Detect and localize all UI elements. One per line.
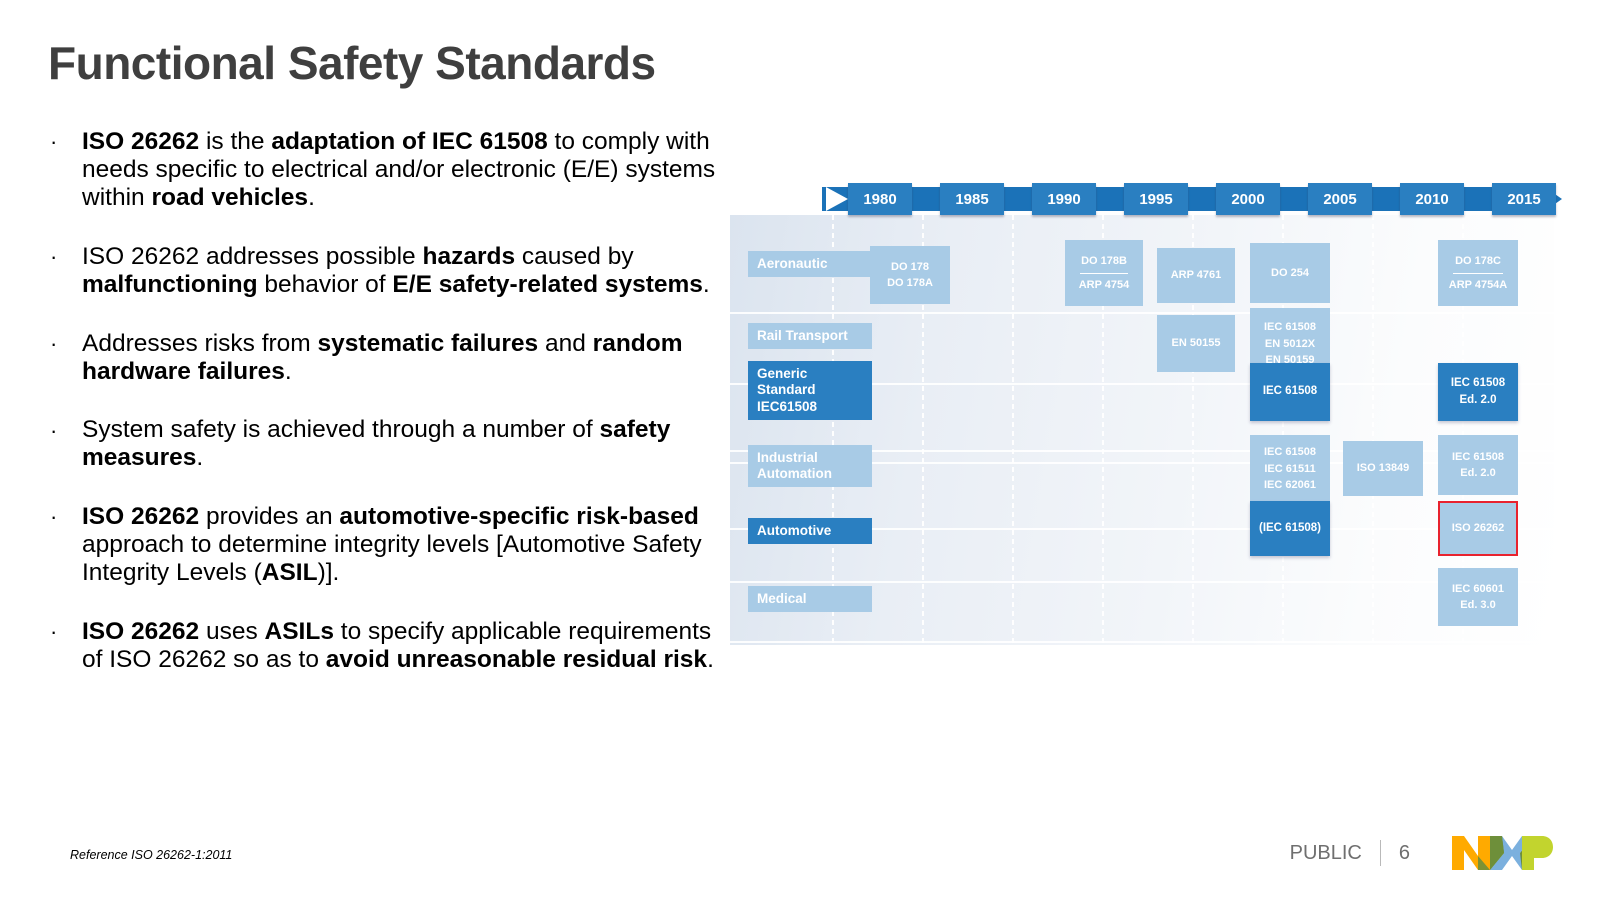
cell-line: DO 178B (1081, 253, 1127, 270)
cell-line: DO 178 (891, 259, 929, 276)
nxp-logo (1450, 832, 1554, 874)
axis-year-1995: 1995 (1124, 183, 1188, 215)
cell-line: DO 178A (887, 275, 933, 292)
cell-generic-iec61508-ed2: IEC 61508 Ed. 2.0 (1438, 363, 1518, 421)
axis-year-2000: 2000 (1216, 183, 1280, 215)
row-label-text: Medical (757, 591, 807, 606)
axis-arrow-left-icon (826, 187, 848, 211)
bullet-text: and (538, 330, 593, 357)
cell-line: ARP 4754 (1079, 277, 1130, 294)
bullet-text: Addresses risks from (82, 330, 318, 357)
bullet-emphasis: ASILs (265, 618, 334, 645)
cell-iso13849: ISO 13849 (1343, 441, 1423, 496)
grid-row-line (730, 581, 1554, 583)
bullet-marker: · (50, 504, 57, 529)
bullet-emphasis: hazards (423, 243, 516, 270)
cell-line: (IEC 61508) (1259, 520, 1321, 537)
cell-divider (1080, 273, 1128, 274)
bullet-text: . (703, 271, 710, 298)
cell-line: DO 178C (1455, 253, 1501, 270)
bullet-emphasis: ASIL (262, 559, 318, 586)
bullet-marker: · (50, 129, 57, 154)
bullet-emphasis: road vehicles (151, 184, 308, 211)
bullet-emphasis: adaptation of IEC 61508 (271, 128, 547, 155)
cell-generic-iec61508: IEC 61508 (1250, 363, 1330, 421)
grid-row-line (730, 312, 1554, 314)
bullet-text: . (285, 358, 292, 385)
cell-industrial-iec61508-ed2: IEC 61508 Ed. 2.0 (1438, 435, 1518, 495)
cell-line: ISO 26262 (1452, 520, 1505, 537)
cell-iec60601-ed3: IEC 60601 Ed. 3.0 (1438, 568, 1518, 626)
cell-line: Ed. 3.0 (1460, 597, 1495, 614)
cell-iso26262-highlight: ISO 26262 (1438, 501, 1518, 556)
timeline-axis: 1980 1985 1990 1995 2000 2005 2010 2015 (730, 183, 1554, 215)
row-label-text: Aeronautic (757, 256, 828, 271)
bullet-item: ·ISO 26262 is the adaptation of IEC 6150… (44, 128, 724, 212)
row-label-text: Rail Transport (757, 328, 848, 343)
bullet-list: ·ISO 26262 is the adaptation of IEC 6150… (44, 128, 724, 705)
axis-year-1985: 1985 (940, 183, 1004, 215)
bullet-text: . (308, 184, 315, 211)
cell-do178: DO 178 DO 178A (870, 246, 950, 304)
page-number: 6 (1399, 842, 1410, 865)
bullet-item: ·ISO 26262 addresses possible hazards ca… (44, 243, 724, 299)
cell-line: Ed. 2.0 (1459, 392, 1496, 409)
footer-divider (1380, 840, 1381, 866)
cell-do178b-arp4754: DO 178B ARP 4754 (1065, 240, 1143, 306)
cell-line: DO 254 (1271, 265, 1309, 282)
row-label-medical: Medical (748, 586, 872, 612)
row-label-text: Automotive (757, 523, 831, 538)
cell-line: IEC 60601 (1452, 581, 1504, 598)
row-label-automotive: Automotive (748, 518, 872, 544)
bullet-emphasis: systematic failures (318, 330, 539, 357)
bullet-marker: · (50, 619, 57, 644)
bullet-emphasis: E/E safety-related systems (392, 271, 703, 298)
row-label-rail-transport: Rail Transport (748, 323, 872, 349)
bullet-text: provides an (199, 503, 339, 530)
bullet-emphasis: automotive-specific risk-based (339, 503, 698, 530)
bullet-marker: · (50, 331, 57, 356)
reference-note: Reference ISO 26262-1:2011 (70, 848, 232, 862)
footer-right: PUBLIC 6 (1290, 840, 1410, 866)
cell-industrial-iec-group: IEC 61508 IEC 61511 IEC 62061 (1250, 435, 1330, 503)
bullet-text: . (707, 646, 714, 673)
axis-year-2010: 2010 (1400, 183, 1464, 215)
axis-year-2005: 2005 (1308, 183, 1372, 215)
cell-line: IEC 61511 (1264, 461, 1315, 478)
cell-en50155: EN 50155 (1157, 315, 1235, 372)
bullet-emphasis: avoid unreasonable residual risk (326, 646, 707, 673)
bullet-item: ·System safety is achieved through a num… (44, 416, 724, 472)
bullet-text: )]. (318, 559, 340, 586)
bullet-marker: · (50, 244, 57, 269)
bullet-text: caused by (515, 243, 634, 270)
row-label-aeronautic: Aeronautic (748, 251, 872, 277)
cell-line: ARP 4754A (1449, 277, 1508, 294)
bullet-item: ·Addresses risks from systematic failure… (44, 330, 724, 386)
row-label-industrial-automation: IndustrialAutomation (748, 445, 872, 487)
bullet-emphasis: ISO 26262 (82, 128, 199, 155)
axis-year-2015: 2015 (1492, 183, 1556, 215)
cell-line: IEC 61508 (1451, 375, 1505, 392)
bullet-text: behavior of (258, 271, 393, 298)
axis-year-1980: 1980 (848, 183, 912, 215)
cell-automotive-iec61508: (IEC 61508) (1250, 501, 1330, 556)
bullet-item: ·ISO 26262 provides an automotive-specif… (44, 503, 724, 587)
cell-do254: DO 254 (1250, 243, 1330, 303)
cell-do178c-arp4754a: DO 178C ARP 4754A (1438, 240, 1518, 306)
grid-row-line (730, 641, 1554, 643)
cell-line: EN 5012X (1265, 336, 1315, 353)
standards-timeline-chart: 1980 1985 1990 1995 2000 2005 2010 2015 … (730, 183, 1554, 645)
cell-line: IEC 61508 (1264, 319, 1316, 336)
page-title: Functional Safety Standards (48, 36, 656, 90)
cell-line: ISO 13849 (1357, 460, 1410, 477)
bullet-text: . (196, 444, 203, 471)
bullet-emphasis: malfunctioning (82, 271, 258, 298)
cell-arp4761: ARP 4761 (1157, 248, 1235, 303)
cell-line: Ed. 2.0 (1460, 465, 1495, 482)
bullet-text: uses (199, 618, 264, 645)
bullet-text: ISO 26262 addresses possible (82, 243, 423, 270)
axis-year-1990: 1990 (1032, 183, 1096, 215)
cell-line: IEC 61508 (1263, 383, 1317, 400)
cell-line: IEC 61508 (1264, 444, 1316, 461)
cell-divider (1453, 273, 1503, 274)
bullet-text: is the (199, 128, 271, 155)
row-label-generic-standard: GenericStandardIEC61508 (748, 361, 872, 420)
bullet-marker: · (50, 418, 57, 443)
bullet-emphasis: ISO 26262 (82, 618, 199, 645)
cell-line: IEC 61508 (1452, 449, 1504, 466)
bullet-text: System safety is achieved through a numb… (82, 416, 600, 443)
nxp-logo-svg (1450, 832, 1554, 874)
cell-line: EN 50155 (1172, 335, 1221, 352)
bullet-item: ·ISO 26262 uses ASILs to specify applica… (44, 618, 724, 674)
bullet-emphasis: ISO 26262 (82, 503, 199, 530)
bullet-text: approach to determine integrity levels [… (82, 531, 702, 586)
classification-label: PUBLIC (1290, 842, 1362, 865)
cell-line: IEC 62061 (1264, 477, 1316, 494)
cell-line: ARP 4761 (1171, 267, 1222, 284)
